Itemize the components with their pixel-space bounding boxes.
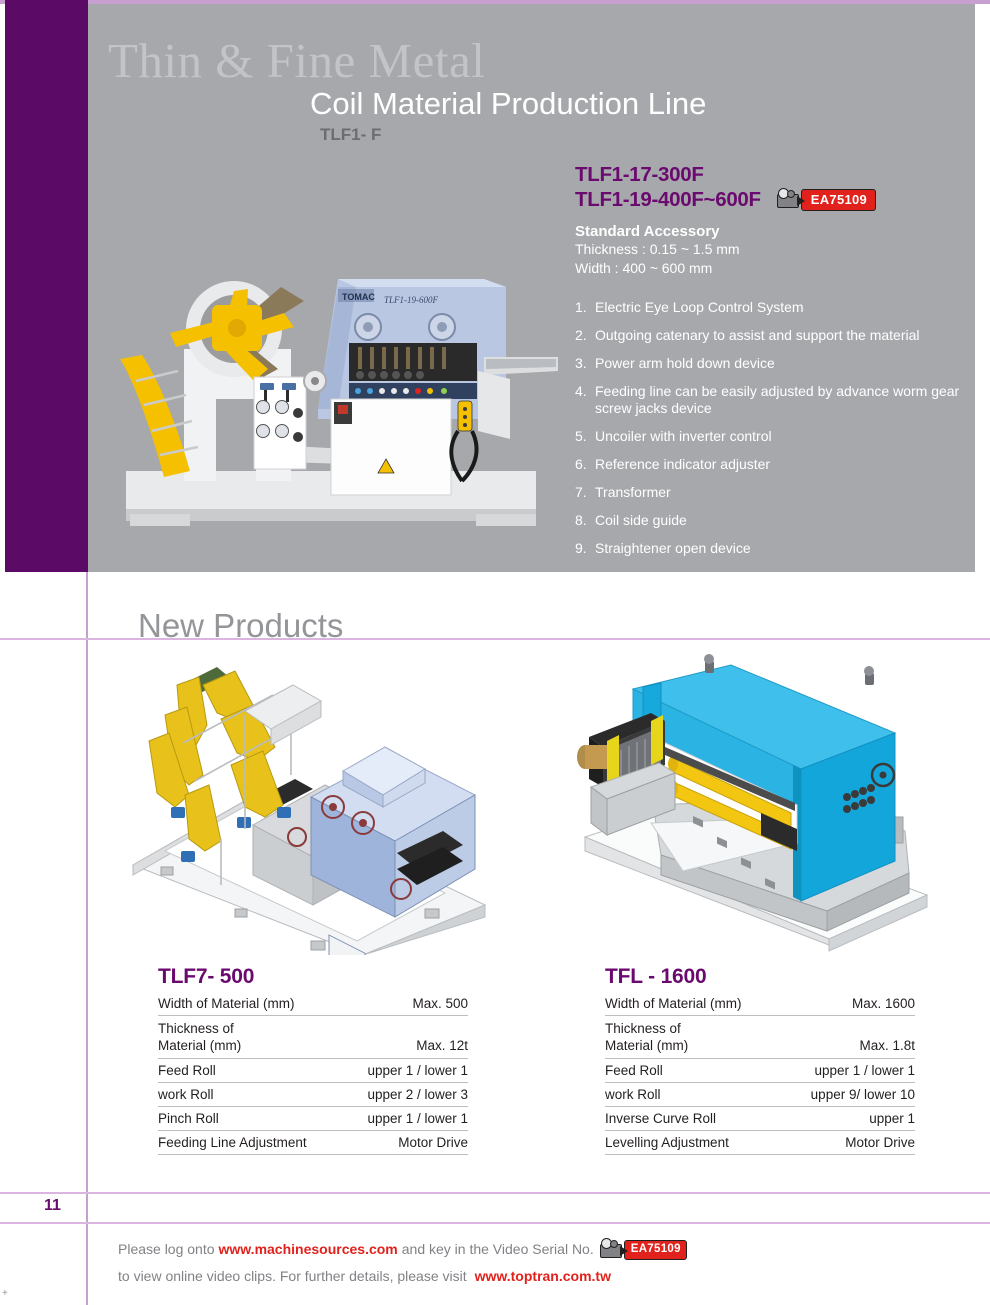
product-title-right: TFL - 1600: [605, 965, 915, 989]
spec-value: Max. 12t: [343, 1016, 468, 1059]
video-serial-code: EA75109: [801, 189, 876, 211]
spec-value: upper 1: [781, 1107, 915, 1131]
thickness-spec: Thickness : 0.15 ~ 1.5 mm: [575, 240, 967, 259]
footer-line-1: Please log onto www.machinesources.com a…: [118, 1236, 918, 1263]
hero-machine-photo: TOMAC TLF1-19-600F: [106, 209, 576, 554]
spec-table-right: Width of Material (mm) Max. 1600 Thickne…: [605, 992, 915, 1155]
width-spec: Width : 400 ~ 600 mm: [575, 259, 967, 278]
spec-key: Width of Material (mm): [605, 992, 781, 1016]
product-image-tlf7-500: [125, 655, 515, 955]
feature-number: 8.: [575, 512, 587, 529]
svg-text:TLF1-19-600F: TLF1-19-600F: [384, 295, 439, 305]
feature-item: 1.Electric Eye Loop Control System: [575, 299, 967, 316]
feature-text: Uncoiler with inverter control: [595, 428, 772, 444]
feature-number: 3.: [575, 355, 587, 372]
spec-value: upper 1 / lower 1: [343, 1059, 468, 1083]
footer-video-serial-badge[interactable]: EA75109: [598, 1239, 687, 1261]
feature-number: 2.: [575, 327, 587, 344]
spec-key: Inverse Curve Roll: [605, 1107, 781, 1131]
page-number: 11: [44, 1197, 61, 1215]
spec-key: Pinch Roll: [158, 1107, 343, 1131]
table-row: Feed Roll upper 1 / lower 1: [605, 1059, 915, 1083]
feature-item: 7.Transformer: [575, 484, 967, 501]
movie-camera-icon: [598, 1240, 628, 1260]
spec-value: upper 9/ lower 10: [781, 1083, 915, 1107]
feature-item: 4.Feeding line can be easily adjusted by…: [575, 383, 967, 417]
feature-number: 1.: [575, 299, 587, 316]
spec-table-left: Width of Material (mm) Max. 500 Thicknes…: [158, 992, 468, 1155]
feature-number: 5.: [575, 428, 587, 445]
table-row: Width of Material (mm) Max. 1600: [605, 992, 915, 1016]
model-code-2: TLF1-19-400F~600F: [575, 187, 761, 212]
feature-text: Electric Eye Loop Control System: [595, 299, 804, 315]
spec-value: upper 1 / lower 1: [781, 1059, 915, 1083]
feature-item: 5.Uncoiler with inverter control: [575, 428, 967, 445]
footer-text-a: Please log onto: [118, 1236, 215, 1263]
footer-rule-top: [0, 1192, 990, 1194]
spec-key: Feed Roll: [158, 1059, 343, 1083]
feature-item: 2.Outgoing catenary to assist and suppor…: [575, 327, 967, 344]
spec-value: Motor Drive: [781, 1131, 915, 1155]
footer: Please log onto www.machinesources.com a…: [118, 1236, 918, 1290]
model-code-1: TLF1-17-300F: [575, 162, 704, 187]
video-serial-badge[interactable]: EA75109: [775, 189, 876, 211]
feature-text: Reference indicator adjuster: [595, 456, 770, 472]
feature-number: 4.: [575, 383, 587, 400]
hero-model-code: TLF1- F: [320, 125, 381, 145]
table-row: Pinch Roll upper 1 / lower 1: [158, 1107, 468, 1131]
table-row: Inverse Curve Roll upper 1: [605, 1107, 915, 1131]
movie-camera-icon: [775, 190, 805, 210]
page-title: Thin & Fine Metal: [108, 32, 485, 89]
product-image-tfl-1600: [565, 645, 965, 960]
feature-number: 6.: [575, 456, 587, 473]
product-block-right: TFL - 1600 Width of Material (mm) Max. 1…: [605, 965, 915, 1155]
spec-value: upper 2 / lower 3: [343, 1083, 468, 1107]
spec-key: work Roll: [158, 1083, 343, 1107]
footer-text-c: to view online video clips. For further …: [118, 1263, 467, 1290]
machinesources-link[interactable]: www.machinesources.com: [219, 1236, 398, 1263]
table-row: Thickness ofMaterial (mm) Max. 1.8t: [605, 1016, 915, 1059]
spec-value: Max. 500: [343, 992, 468, 1016]
hero-panel: Thin & Fine Metal Coil Material Producti…: [88, 4, 975, 572]
footer-line-2: to view online video clips. For further …: [118, 1263, 918, 1290]
brochure-page: Thin & Fine Metal Coil Material Producti…: [0, 0, 990, 1305]
table-row: Thickness ofMaterial (mm) Max. 12t: [158, 1016, 468, 1059]
model-row-1: TLF1-17-300F: [575, 162, 967, 187]
feature-number: 7.: [575, 484, 587, 501]
spec-key: Feed Roll: [605, 1059, 781, 1083]
new-products-heading: New Products: [138, 607, 343, 645]
svg-text:TOMAC: TOMAC: [342, 292, 375, 302]
table-row: Feed Roll upper 1 / lower 1: [158, 1059, 468, 1083]
footer-rule-bottom: [0, 1222, 990, 1224]
vertical-page-rule: [86, 572, 88, 1305]
feature-text: Straightener open device: [595, 540, 751, 556]
spec-key: Thickness ofMaterial (mm): [158, 1016, 343, 1059]
feature-list: 1.Electric Eye Loop Control System 2.Out…: [575, 299, 967, 557]
table-row: Levelling Adjustment Motor Drive: [605, 1131, 915, 1155]
crop-mark: +: [2, 1288, 8, 1299]
hero-spec-column: TLF1-17-300F TLF1-19-400F~600F EA75109 S…: [575, 162, 967, 568]
table-row: work Roll upper 2 / lower 3: [158, 1083, 468, 1107]
purple-sidebar-block: [5, 0, 88, 572]
feature-text: Outgoing catenary to assist and support …: [595, 327, 920, 343]
feature-text: Feeding line can be easily adjusted by a…: [595, 383, 959, 416]
spec-key: work Roll: [605, 1083, 781, 1107]
spec-value: upper 1 / lower 1: [343, 1107, 468, 1131]
feature-text: Transformer: [595, 484, 671, 500]
product-title-left: TLF7- 500: [158, 965, 468, 989]
feature-item: 9.Straightener open device: [575, 540, 967, 557]
table-row: Width of Material (mm) Max. 500: [158, 992, 468, 1016]
page-subtitle: Coil Material Production Line: [310, 86, 706, 122]
spec-key: Levelling Adjustment: [605, 1131, 781, 1155]
model-row-2: TLF1-19-400F~600F EA75109: [575, 187, 967, 212]
standard-accessory-heading: Standard Accessory: [575, 223, 967, 240]
spec-value: Motor Drive: [343, 1131, 468, 1155]
product-block-left: TLF7- 500 Width of Material (mm) Max. 50…: [158, 965, 468, 1155]
spec-value: Max. 1.8t: [781, 1016, 915, 1059]
table-row: Feeding Line Adjustment Motor Drive: [158, 1131, 468, 1155]
spec-key: Thickness ofMaterial (mm): [605, 1016, 781, 1059]
footer-text-b: and key in the Video Serial No.: [402, 1236, 594, 1263]
feature-item: 8.Coil side guide: [575, 512, 967, 529]
feature-text: Power arm hold down device: [595, 355, 775, 371]
feature-item: 6.Reference indicator adjuster: [575, 456, 967, 473]
footer-video-serial-code: EA75109: [624, 1240, 687, 1260]
spec-value: Max. 1600: [781, 992, 915, 1016]
spec-key: Width of Material (mm): [158, 992, 343, 1016]
feature-item: 3.Power arm hold down device: [575, 355, 967, 372]
toptran-link[interactable]: www.toptran.com.tw: [475, 1263, 611, 1290]
feature-text: Coil side guide: [595, 512, 687, 528]
feature-number: 9.: [575, 540, 587, 557]
table-row: work Roll upper 9/ lower 10: [605, 1083, 915, 1107]
spec-key: Feeding Line Adjustment: [158, 1131, 343, 1155]
